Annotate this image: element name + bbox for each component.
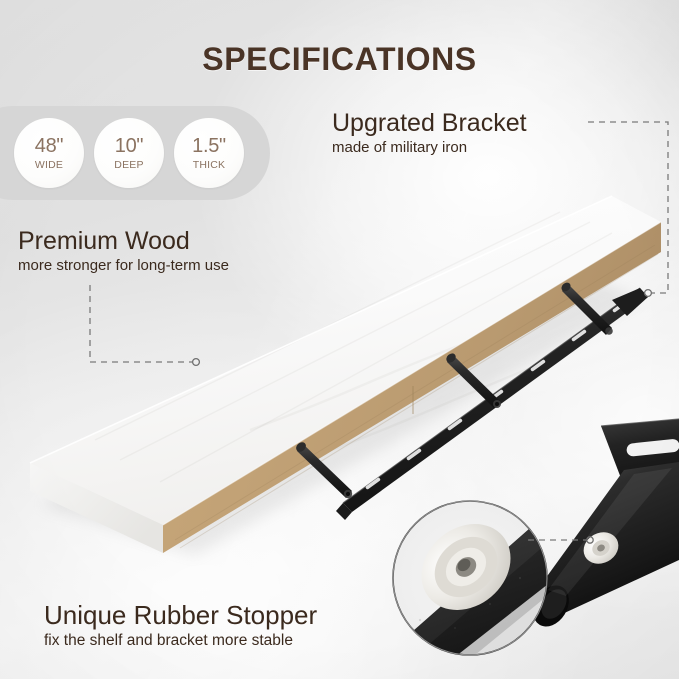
spec-badge-width: 48" WIDE bbox=[14, 118, 84, 188]
spec-badge-width-value: 48" bbox=[35, 136, 63, 156]
spec-badge-depth-label: DEEP bbox=[114, 160, 143, 171]
callout-stopper-subtext: fix the shelf and bracket more stable bbox=[44, 632, 317, 650]
spec-badge-depth: 10" DEEP bbox=[94, 118, 164, 188]
callout-bracket-heading: Upgrated Bracket bbox=[332, 110, 527, 136]
spec-badge-thickness: 1.5" THICK bbox=[174, 118, 244, 188]
page-title: SPECIFICATIONS bbox=[0, 41, 679, 78]
spec-badge-depth-value: 10" bbox=[115, 136, 143, 156]
callout-stopper-heading: Unique Rubber Stopper bbox=[44, 602, 317, 629]
callout-bracket: Upgrated Bracket made of military iron bbox=[332, 110, 527, 157]
specifications-infographic: SPECIFICATIONS 48" WIDE 10" DEEP 1.5" TH… bbox=[0, 0, 679, 679]
background-vignette bbox=[0, 0, 679, 679]
spec-badge-width-label: WIDE bbox=[35, 160, 63, 171]
spec-badges-group: 48" WIDE 10" DEEP 1.5" THICK bbox=[14, 118, 244, 188]
callout-premium-wood: Premium Wood more stronger for long-term… bbox=[18, 228, 229, 275]
callout-bracket-subtext: made of military iron bbox=[332, 139, 527, 156]
callout-wood-subtext: more stronger for long-term use bbox=[18, 257, 229, 274]
callout-rubber-stopper: Unique Rubber Stopper fix the shelf and … bbox=[44, 602, 317, 650]
spec-badge-thickness-label: THICK bbox=[193, 160, 226, 171]
spec-badge-thickness-value: 1.5" bbox=[192, 136, 226, 156]
callout-wood-heading: Premium Wood bbox=[18, 228, 229, 254]
